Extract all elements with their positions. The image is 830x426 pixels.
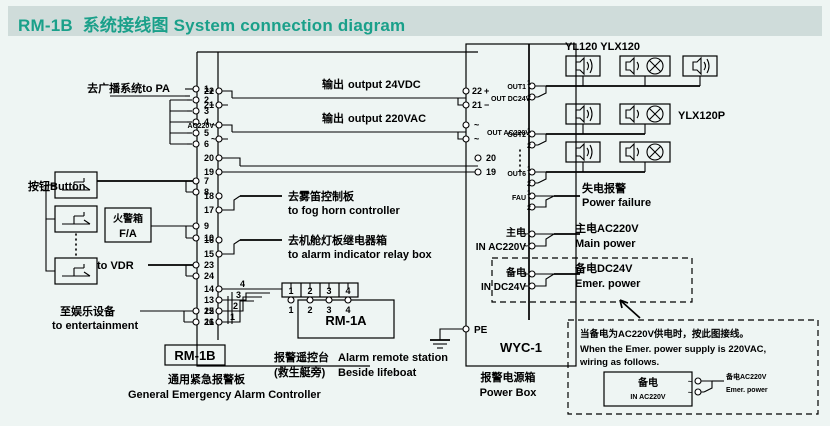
- rm1b-terminal-11: 11: [204, 317, 214, 327]
- rm1b-terminal-17: 17: [204, 205, 214, 215]
- rm1b-terminal-6: 6: [204, 139, 209, 149]
- main-power-sign2: ~: [523, 241, 528, 251]
- pa-label: 去广播系统to PA: [87, 81, 170, 95]
- rm1a-terminal-4: 4: [345, 305, 350, 315]
- speaker-icon-4: [566, 142, 600, 162]
- rm1a-caption-cn2: (救生艇旁): [274, 365, 326, 379]
- emer-power-sign1: +: [523, 269, 528, 279]
- out1-terminal-1: 1: [527, 80, 531, 87]
- fog-horn-en: to fog horn controller: [288, 205, 401, 217]
- rm1a-caption-cn: 报警遥控台: [274, 350, 329, 364]
- relay-box-cn: 去机舱灯板继电器箱: [288, 233, 387, 247]
- wyc1-in-22-sign: +: [484, 86, 489, 96]
- wyc1-in-21: 21: [472, 100, 482, 110]
- speaker-icon: [566, 56, 600, 76]
- wiring-diagram-canvas: RM-1B 去广播系统to PA 1 2 3 4 5: [0, 0, 830, 426]
- main-power-left-en: IN AC220V: [476, 242, 527, 253]
- rm1b-caption-cn: 通用紧急报警板: [168, 372, 246, 386]
- diagram-page: RM-1B 系统接线图 System connection diagram RM…: [0, 0, 830, 426]
- output-220vac-en: output 220VAC: [348, 113, 426, 125]
- rm1b-terminal-14: 14: [204, 284, 214, 294]
- rm1b-terminal-13: 13: [204, 295, 214, 305]
- emer-power-sign2: −: [523, 281, 528, 291]
- note-sign1: ~: [688, 379, 692, 386]
- rm1b-terminal-12: 12: [204, 306, 214, 316]
- rm1a-terminal-1: 1: [288, 305, 293, 315]
- out6-group: OUT6 1 2: [507, 142, 670, 188]
- wyc1-name: WYC-1: [500, 340, 542, 355]
- vdr-label: to VDR: [97, 260, 134, 272]
- out1-group: OUT1 1 2: [507, 41, 717, 102]
- out1-terminal-2: 2: [527, 95, 531, 102]
- output-24vdc-en: output 24VDC: [348, 79, 421, 91]
- rm1b-terminal-22-sign: +: [209, 86, 214, 96]
- rm1a-terminal-3: 3: [326, 305, 331, 315]
- rm1a-name: RM-1A: [325, 313, 367, 328]
- wyc1-out-dc24v-tag: OUT DC24V: [491, 96, 531, 103]
- main-power-group: 主电 IN AC220V ~ ~ 主电AC220V Main power: [476, 221, 639, 253]
- push-button-2[interactable]: [55, 206, 97, 232]
- main-power-sign1: ~: [523, 229, 528, 239]
- out2-group: OUT2 1 2 YLX120P: [507, 104, 725, 150]
- rm1a-caption-en2: Beside lifeboat: [338, 367, 417, 379]
- speaker-icon-3: [566, 104, 600, 124]
- rm1b-terminal-23: 23: [204, 260, 214, 270]
- output-24vdc-cn: 输出: [322, 77, 344, 91]
- output-220vac-cn: 输出: [322, 111, 344, 125]
- fog-horn-cn: 去雾笛控制板: [288, 189, 355, 203]
- rm1b-caption-en: General Emergency Alarm Controller: [128, 389, 321, 401]
- rm1b-terminal-7: 7: [204, 176, 209, 186]
- out2-label: OUT2: [507, 132, 526, 139]
- out6-terminal-2: 2: [527, 181, 531, 188]
- devices-row1-label: YL120 YLX120: [565, 41, 640, 53]
- fau-terminal-1: 1: [527, 190, 531, 197]
- main-power-right-en: Main power: [575, 238, 636, 250]
- output-lines: 输出 output 24VDC 输出 output 220VAC: [232, 77, 478, 172]
- entertainment-cn: 至娱乐设备: [60, 304, 116, 318]
- rm1a-caption-en: Alarm remote station: [338, 352, 448, 364]
- rm1b-terminal-21-sign: −: [209, 100, 214, 110]
- fau-en: Power failure: [582, 197, 651, 209]
- pe-label: PE: [474, 325, 488, 336]
- note-box-en: IN AC220V: [630, 394, 665, 401]
- note-line-en2: wiring as follows.: [579, 357, 659, 368]
- rm1b-terminal-15: 15: [204, 249, 214, 259]
- emer-power-group: 备电 IN DC24V + − 备电DC24V Emer. power: [481, 258, 692, 302]
- emer-power-right-en: Emer. power: [575, 278, 641, 290]
- rm1b-terminal-19: 19: [204, 167, 214, 177]
- fau-label: FAU: [512, 195, 526, 202]
- entertainment-connection: 至娱乐设备 to entertainment 25 26: [52, 304, 214, 332]
- relay-box-en: to alarm indicator relay box: [288, 249, 433, 261]
- out6-label: OUT6: [507, 171, 526, 178]
- out2-terminal-2: 2: [527, 143, 531, 150]
- emer-power-right-cn: 备电DC24V: [574, 261, 633, 275]
- rm1a-terminal-2: 2: [307, 305, 312, 315]
- fa-box-cn: 火警箱: [113, 212, 143, 225]
- out2-terminal-1: 1: [527, 128, 531, 135]
- fau-cn: 失电报警: [582, 181, 626, 195]
- rm1b-terminal-9: 9: [204, 221, 209, 231]
- fau-terminal-2: 2: [527, 205, 531, 212]
- fa-box-en: F/A: [119, 228, 137, 240]
- wyc1-caption-en: Power Box: [480, 387, 538, 399]
- pa-connection-group: 去广播系统to PA 1 2 3 4 5 6: [87, 81, 209, 149]
- wyc1-in-22: 22: [472, 86, 482, 96]
- rm1b-terminal-20: 20: [204, 153, 214, 163]
- wyc1-in-19: 19: [486, 167, 496, 177]
- note-out-en: Emer. power: [726, 387, 768, 394]
- button-label: 按钮Button: [28, 179, 86, 193]
- out1-label: OUT1: [507, 84, 526, 91]
- rm1a-box: RM-1A 1 2 3 4 1 2 3 4 报警遥控台 Alarm remote…: [274, 283, 448, 379]
- rm1b-terminal-18: 18: [204, 191, 214, 201]
- emer-power-left-en: IN DC24V: [481, 282, 526, 293]
- speaker-light-icon-2: [620, 104, 670, 124]
- main-power-right-cn: 主电AC220V: [575, 221, 639, 235]
- note-out-cn: 备电AC220V: [725, 372, 767, 381]
- speaker-light-icon-3: [620, 142, 670, 162]
- rm1b-terminal-ac-sign1: ~: [211, 120, 216, 130]
- rm1b-terminal-16: 16: [204, 235, 214, 245]
- rm1b-wire-3: 3: [236, 290, 241, 300]
- out6-terminal-1: 1: [527, 166, 531, 173]
- fire-alarm-box: 火警箱 F/A 9 10: [105, 208, 214, 243]
- speaker-icon-2: [683, 56, 717, 76]
- note-line-en1: When the Emer. power supply is 220VAC,: [580, 344, 766, 355]
- note-box-cn: 备电: [637, 376, 658, 389]
- note-box: 当备电为AC220V供电时，按此图接线。 When the Emer. powe…: [568, 300, 818, 414]
- rm1b-wire-4: 4: [240, 279, 245, 289]
- rm1b-terminal-24: 24: [204, 271, 214, 281]
- note-line-cn: 当备电为AC220V供电时，按此图接线。: [580, 328, 749, 340]
- rm1b-terminal-ac-sign2: ~: [211, 134, 216, 144]
- rm1b-name: RM-1B: [174, 348, 215, 363]
- devices-row2-label: YLX120P: [678, 110, 725, 122]
- rm1b-wire-2: 2: [233, 301, 238, 311]
- pe-ground: PE: [430, 325, 488, 348]
- speaker-light-icon: [620, 56, 670, 76]
- wyc1-in-20: 20: [486, 153, 496, 163]
- wyc1-in-ac-sign2: ~: [474, 134, 479, 144]
- push-button-3[interactable]: [55, 258, 97, 284]
- wyc1-in-ac-sign1: ~: [474, 120, 479, 130]
- entertainment-en: to entertainment: [52, 320, 139, 332]
- wyc1-caption-cn: 报警电源箱: [481, 370, 536, 384]
- wyc1-in-21-sign: −: [484, 100, 489, 110]
- note-sign2: ~: [688, 390, 692, 397]
